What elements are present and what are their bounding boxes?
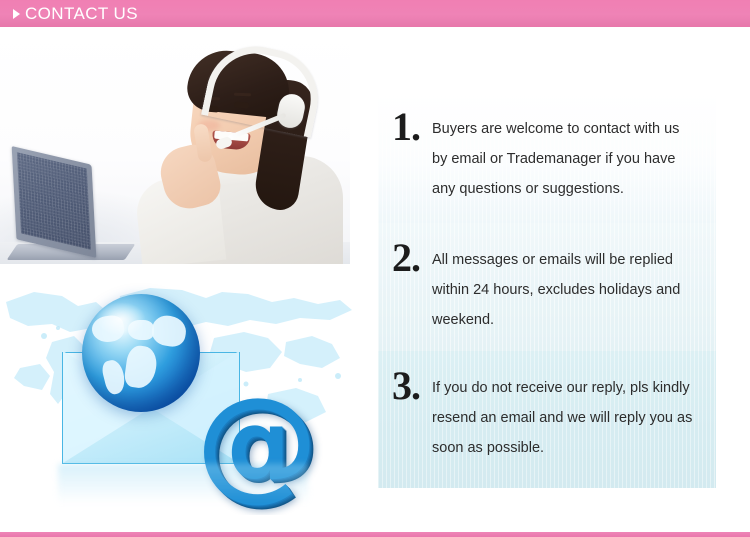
- page-title: CONTACT US: [25, 5, 138, 22]
- laptop-screen: [17, 152, 91, 249]
- laptop-icon: [12, 156, 132, 260]
- contact-us-page: CONTACT US: [0, 0, 750, 537]
- panel-text-3: If you do not receive our reply, pls kin…: [432, 365, 698, 463]
- globe-highlight: [96, 302, 146, 336]
- panel-text-1: Buyers are welcome to contact with us by…: [432, 106, 698, 204]
- section-footer-bar: [0, 532, 750, 537]
- info-panel-1: 1. Buyers are welcome to contact with us…: [378, 92, 716, 223]
- customer-service-agent-photo: [0, 28, 350, 264]
- email-globe-illustration: @: [0, 272, 360, 515]
- info-panel-2: 2. All messages or emails will be replie…: [378, 223, 716, 351]
- media-column: @: [0, 27, 368, 527]
- panel-number-1: 1.: [392, 106, 432, 146]
- panel-text-2: All messages or emails will be replied w…: [432, 237, 698, 335]
- globe-icon: [82, 294, 200, 412]
- agent-figure: [130, 28, 350, 264]
- info-panel-list: 1. Buyers are welcome to contact with us…: [378, 92, 716, 488]
- panel-number-2: 2.: [392, 237, 432, 277]
- info-panel-3: 3. If you do not receive our reply, pls …: [378, 351, 716, 488]
- triangle-right-icon: [13, 9, 20, 19]
- panel-number-3: 3.: [392, 365, 432, 405]
- illustration-reflection: [58, 464, 308, 504]
- section-header-bar: CONTACT US: [0, 0, 750, 27]
- landmass-asia: [150, 313, 189, 348]
- landmass-africa: [123, 344, 159, 390]
- landmass-south-america: [100, 358, 128, 396]
- laptop-lid: [12, 146, 97, 258]
